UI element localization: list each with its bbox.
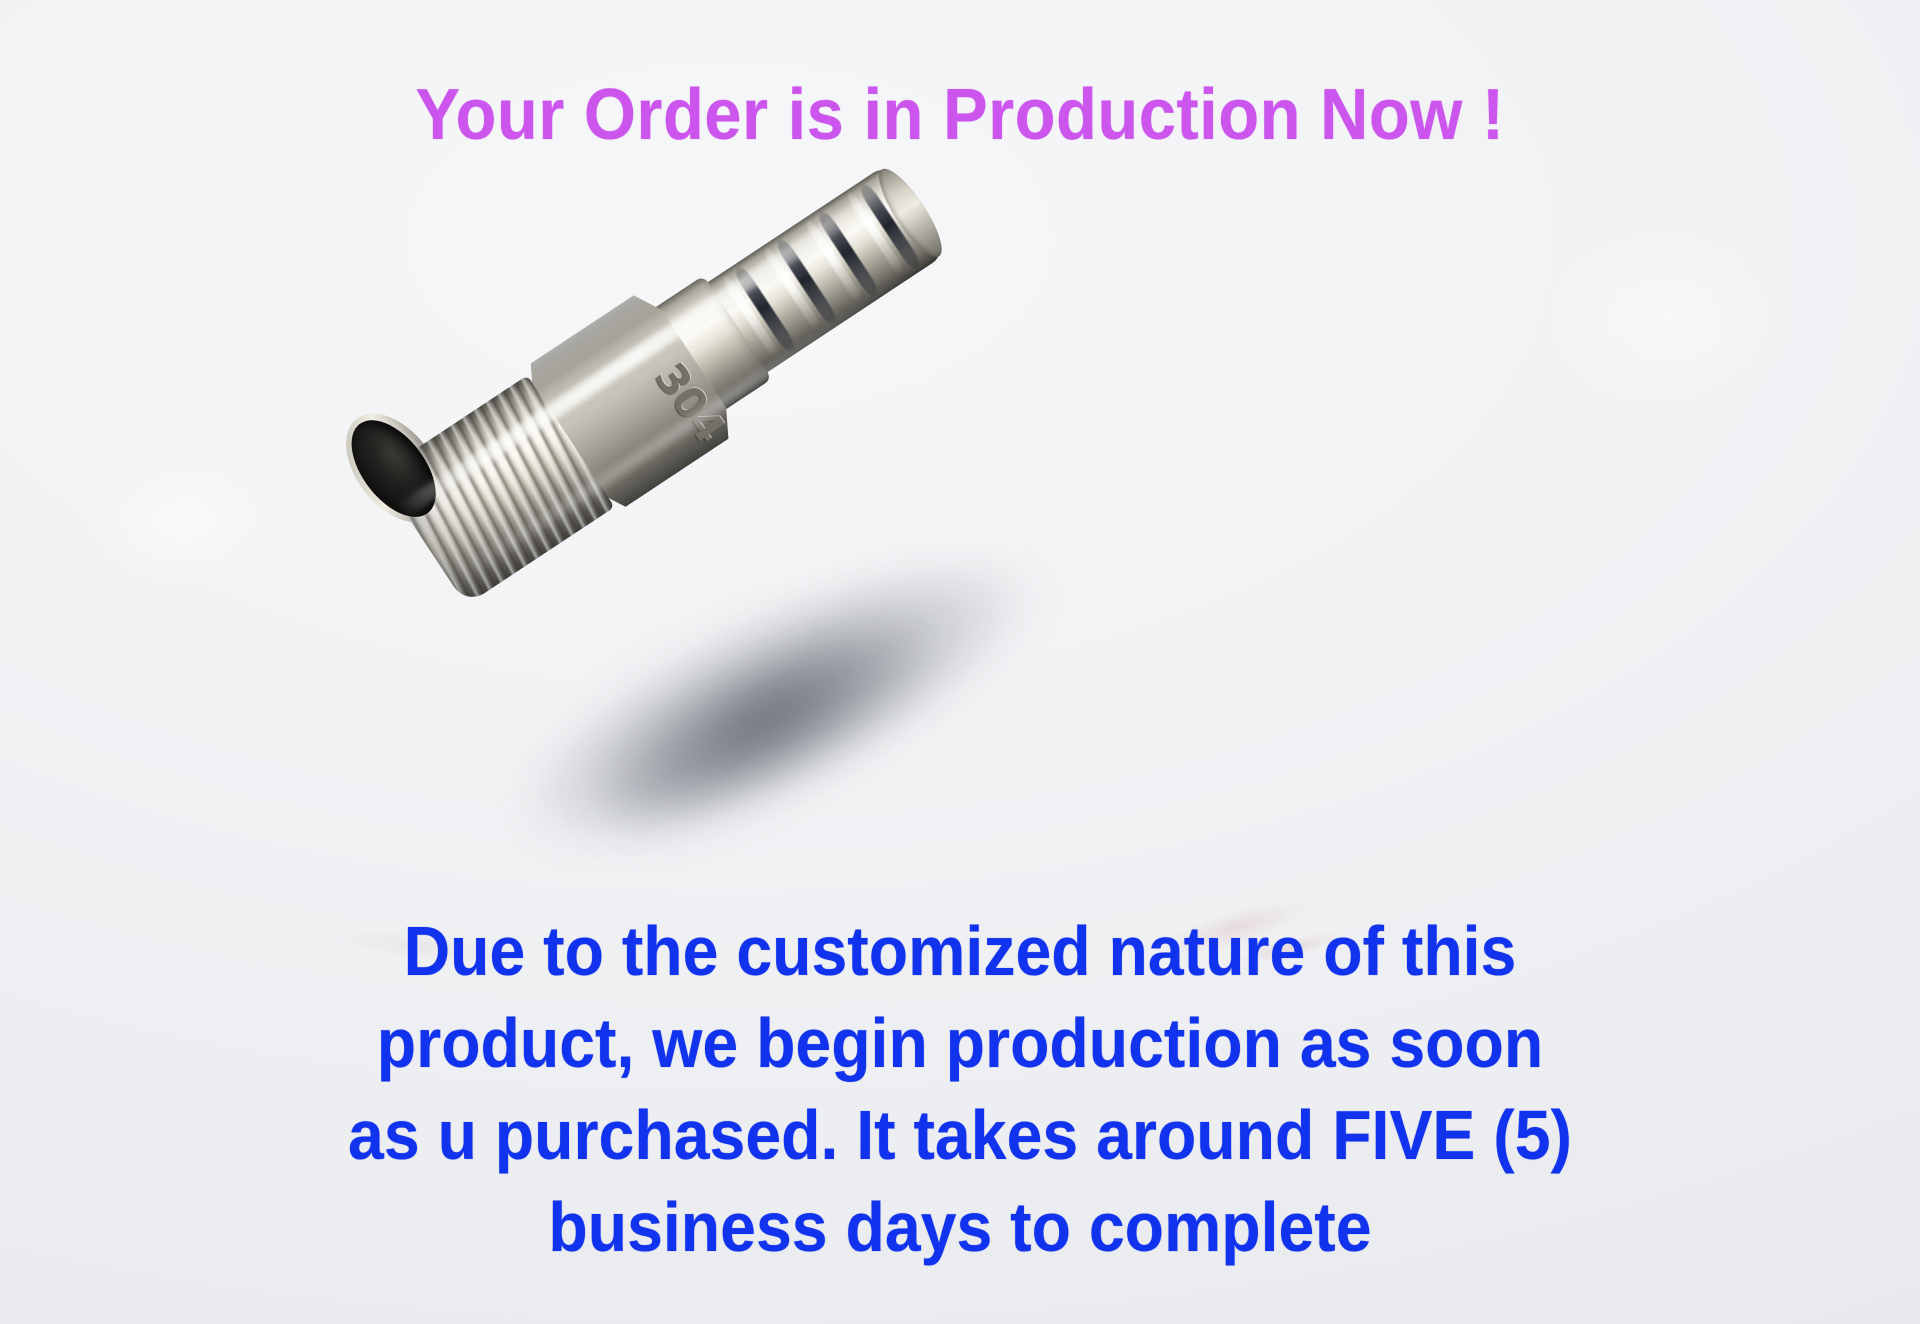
backdrop-highlight-left <box>55 430 315 610</box>
notice-line-3: as u purchased. It takes around FIVE (5) <box>178 1089 1742 1181</box>
screenshot-canvas: Your Order is in Production Now ! 304 <box>0 0 1920 1324</box>
notice-line-4: business days to complete <box>178 1181 1742 1273</box>
backdrop-highlight-right <box>1500 190 1840 450</box>
notice-line-2: product, we begin production as soon <box>178 997 1742 1089</box>
production-lead-time-notice: Due to the customized nature of this pro… <box>178 905 1742 1273</box>
notice-line-1: Due to the customized nature of this <box>178 905 1742 997</box>
